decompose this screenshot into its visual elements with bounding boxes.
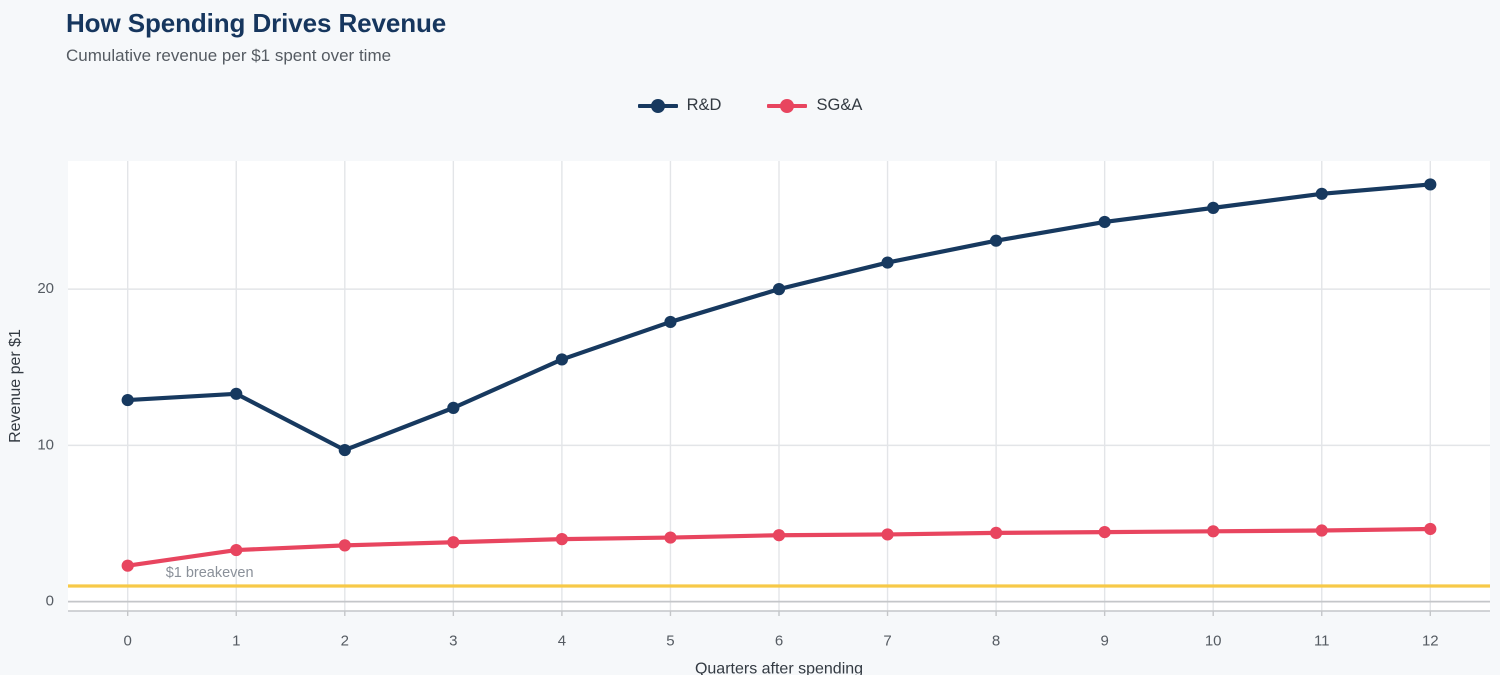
x-axis-tick-label: 4 xyxy=(558,632,566,649)
y-axis-tick-label: 0 xyxy=(46,593,54,610)
plot-area: $1 breakeven 012345678910111201020Quarte… xyxy=(0,0,1500,675)
x-axis-tick-label: 2 xyxy=(341,632,349,649)
x-axis-title: Quarters after spending xyxy=(695,660,863,675)
data-point[interactable] xyxy=(881,256,893,268)
data-point[interactable] xyxy=(1207,202,1219,214)
data-point[interactable] xyxy=(990,527,1002,539)
x-axis-tick-label: 12 xyxy=(1422,632,1439,649)
data-point[interactable] xyxy=(1099,526,1111,538)
x-axis-tick-label: 9 xyxy=(1100,632,1108,649)
data-point[interactable] xyxy=(447,402,459,414)
data-point[interactable] xyxy=(556,533,568,545)
data-point[interactable] xyxy=(1207,525,1219,537)
data-point[interactable] xyxy=(1424,523,1436,535)
y-axis-tick-label: 20 xyxy=(37,280,54,297)
data-point[interactable] xyxy=(447,536,459,548)
data-point[interactable] xyxy=(1099,216,1111,228)
data-point[interactable] xyxy=(1424,178,1436,190)
x-axis-tick-label: 10 xyxy=(1205,632,1222,649)
data-point[interactable] xyxy=(773,529,785,541)
data-point[interactable] xyxy=(339,539,351,551)
y-axis-title: Revenue per $1 xyxy=(7,329,24,443)
x-axis-tick-label: 11 xyxy=(1314,632,1330,649)
data-point[interactable] xyxy=(230,388,242,400)
x-axis-tick-label: 1 xyxy=(232,632,240,649)
breakeven-label: $1 breakeven xyxy=(166,565,254,581)
y-axis-tick-label: 10 xyxy=(37,436,54,453)
x-axis-tick-label: 6 xyxy=(775,632,783,649)
x-axis-tick-label: 8 xyxy=(992,632,1000,649)
chart-figure: How Spending Drives Revenue Cumulative r… xyxy=(0,0,1500,675)
x-axis-tick-label: 7 xyxy=(883,632,891,649)
data-point[interactable] xyxy=(230,544,242,556)
data-point[interactable] xyxy=(339,444,351,456)
data-point[interactable] xyxy=(122,394,134,406)
data-point[interactable] xyxy=(664,316,676,328)
x-axis-tick-label: 0 xyxy=(124,632,132,649)
data-point[interactable] xyxy=(881,528,893,540)
data-point[interactable] xyxy=(556,353,568,365)
x-axis-tick-label: 5 xyxy=(666,632,674,649)
data-point[interactable] xyxy=(773,283,785,295)
data-point[interactable] xyxy=(664,531,676,543)
data-point[interactable] xyxy=(1316,524,1328,536)
x-axis-tick-label: 3 xyxy=(449,632,457,649)
data-point[interactable] xyxy=(122,560,134,572)
data-point[interactable] xyxy=(990,235,1002,247)
data-point[interactable] xyxy=(1316,188,1328,200)
